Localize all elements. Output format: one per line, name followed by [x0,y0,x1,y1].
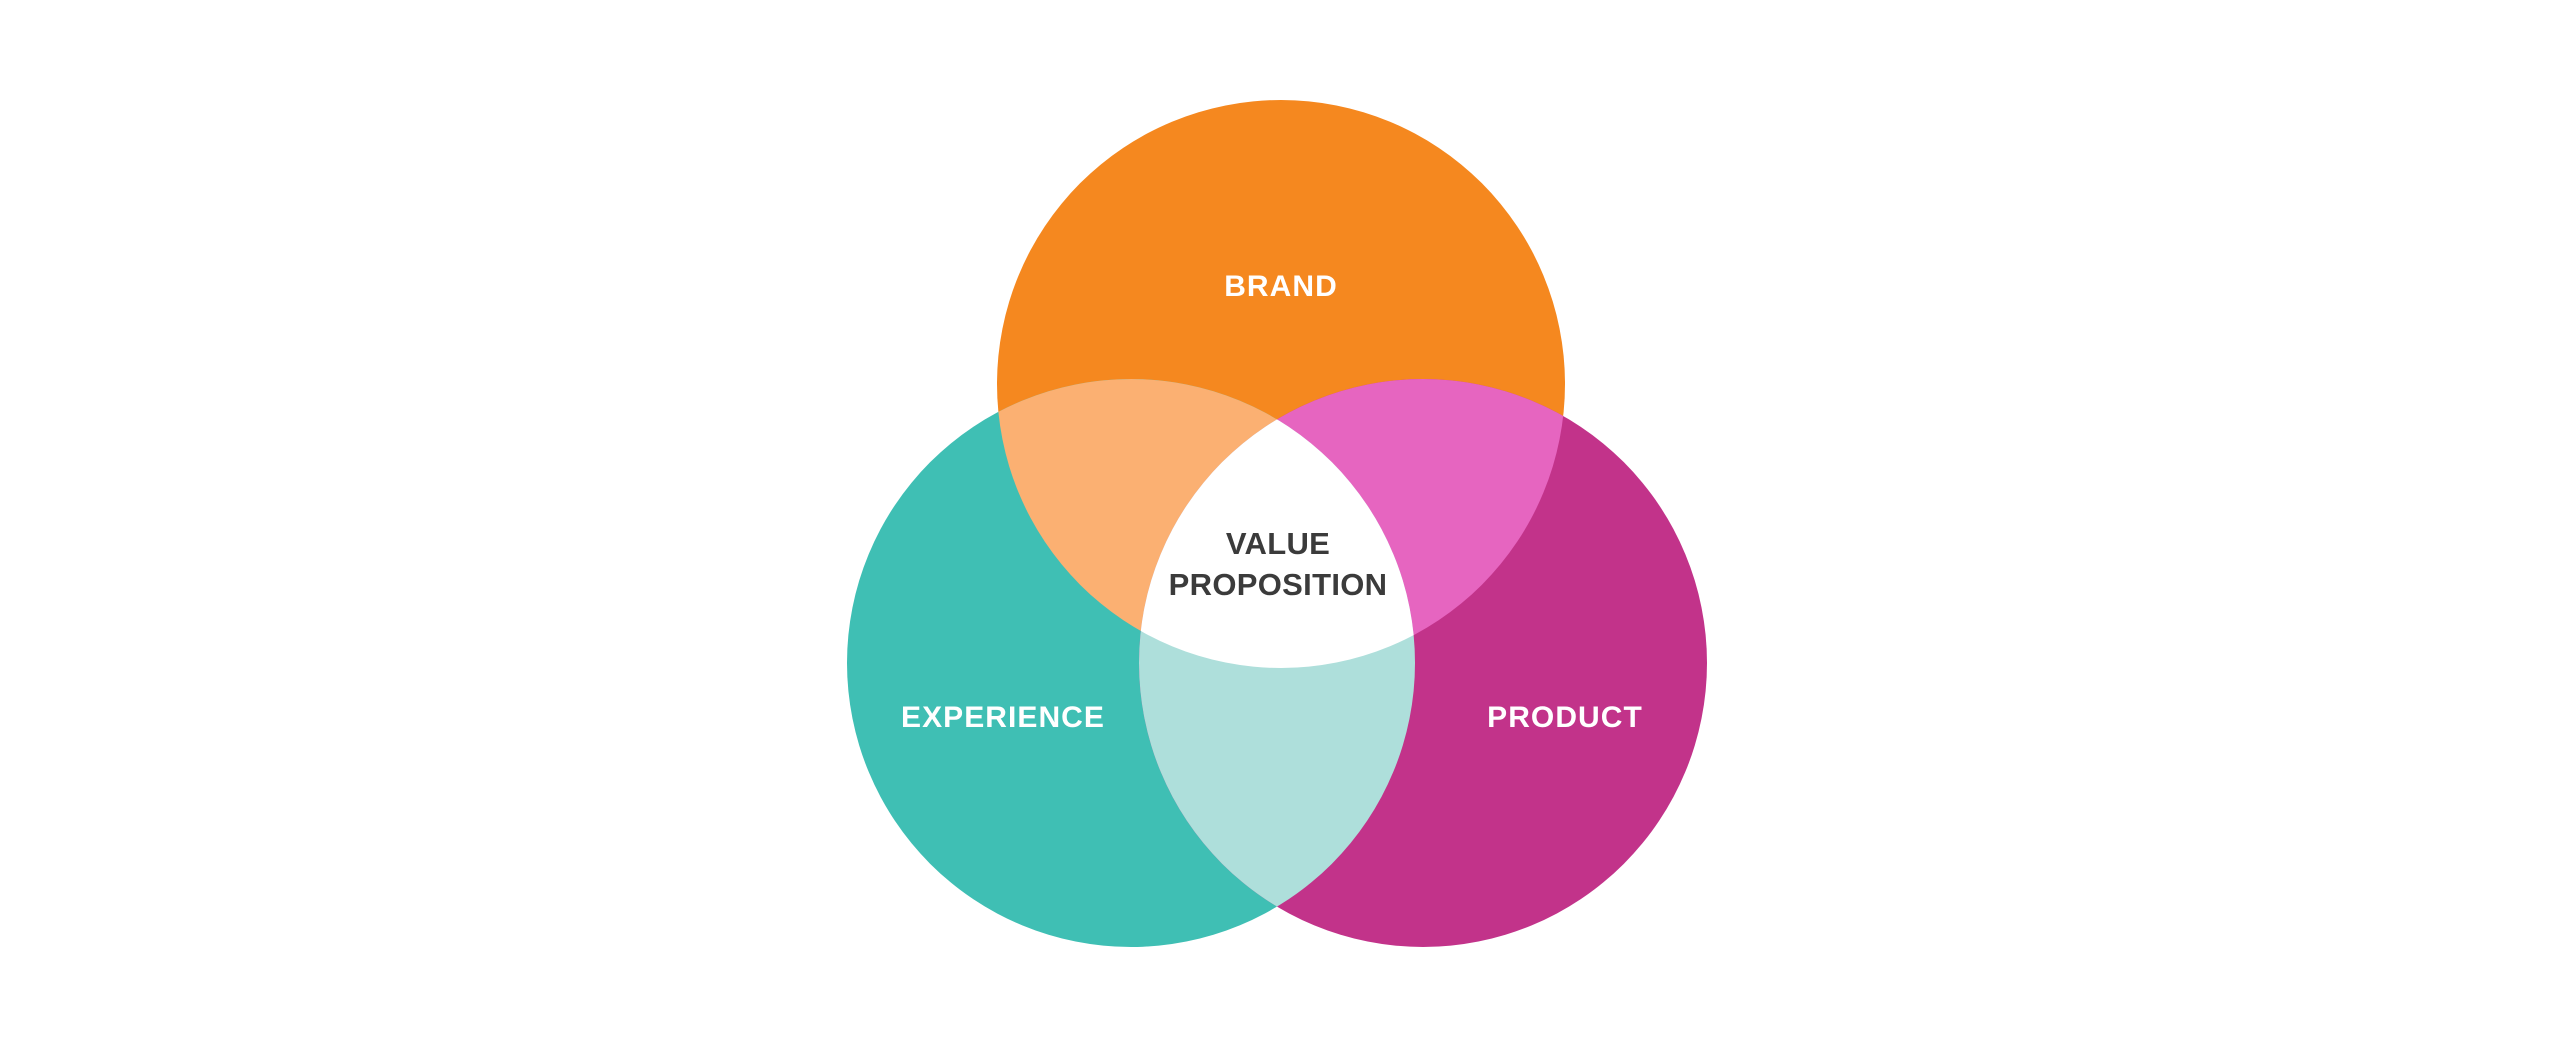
venn-label-product: PRODUCT [1487,701,1643,734]
venn-label-experience: EXPERIENCE [901,701,1105,734]
venn-label-brand: BRAND [1224,270,1338,303]
venn-diagram-canvas: BRAND EXPERIENCE PRODUCT VALUE PROPOSITI… [0,0,2560,1050]
venn-center-label-line2: PROPOSITION [1169,567,1388,602]
venn-center-label-line1: VALUE [1226,526,1330,561]
venn-diagram-svg: BRAND EXPERIENCE PRODUCT VALUE PROPOSITI… [0,0,2560,1050]
